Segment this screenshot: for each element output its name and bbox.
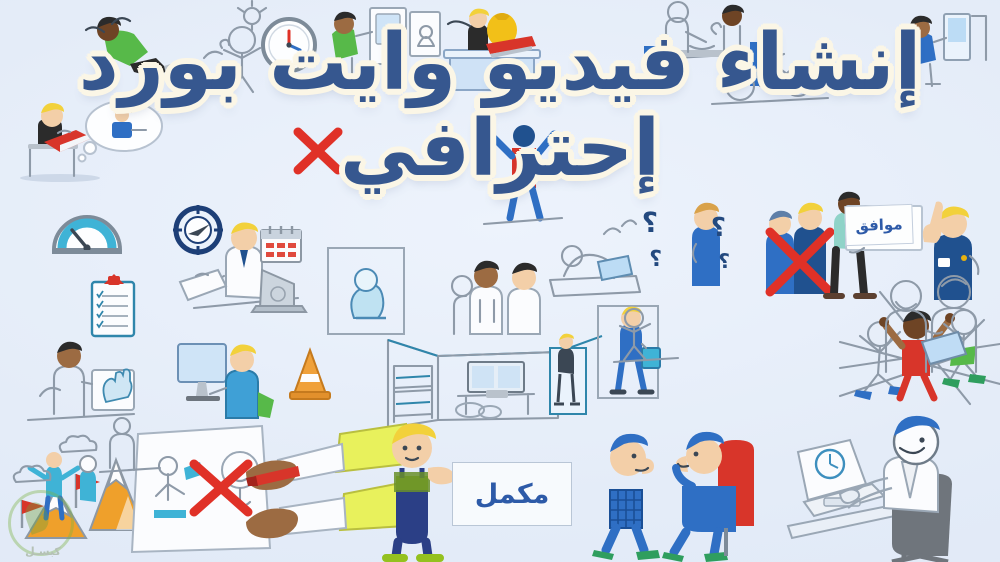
art-confused-person-questions: ؟ ؟ ؟ ؟ [656, 198, 754, 294]
whiteboard-label-muwafiq: موافق [844, 204, 913, 246]
art-red-x-mark [290, 124, 346, 178]
art-sketch-filler-small [612, 300, 682, 366]
art-wall-clock [258, 14, 320, 76]
art-sketch-filler-climber [478, 118, 568, 228]
art-seated-red-chair-character [662, 416, 770, 562]
art-money-bag-celebration [428, 4, 558, 90]
whiteboard-label-mokammel: مكمل [452, 462, 572, 526]
art-reaching-person [890, 12, 990, 92]
art-clipboard-checklist [88, 272, 140, 340]
art-sitting-thinker-frame [326, 246, 406, 338]
art-person-at-display-board [322, 6, 442, 84]
art-person-relaxing [78, 8, 178, 88]
art-person-at-monitor [170, 330, 280, 426]
svg-text:؟: ؟ [711, 213, 726, 243]
art-sketch-filler-left-bottom [96, 418, 166, 478]
thumbnail-canvas: ؟ ؟ ؟ ؟ [0, 0, 1000, 562]
art-doctor-stop-hand [24, 334, 154, 426]
art-two-men-with-tablet [880, 268, 1000, 376]
art-traffic-cone [288, 346, 332, 402]
art-sketch-bike-figure [706, 20, 836, 110]
art-speedometer-gauge [48, 196, 126, 258]
art-hand-drawing-red-marker [128, 424, 408, 560]
svg-text:؟: ؟ [718, 249, 730, 273]
art-calendar [258, 222, 304, 266]
svg-text:؟: ؟ [649, 247, 662, 272]
art-sketch-person-sleeping [544, 216, 648, 302]
art-man-at-laptop-office-chair [788, 418, 998, 562]
art-man-reading-at-desk [14, 86, 164, 186]
